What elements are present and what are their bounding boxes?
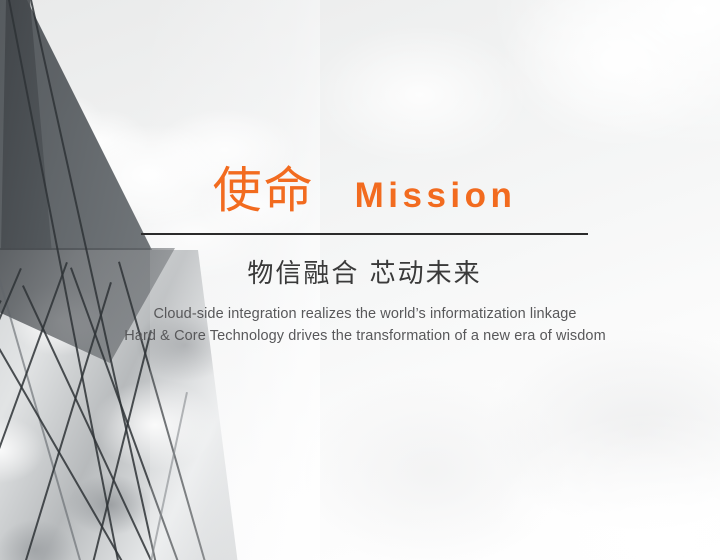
body-line-2: Hard & Core Technology drives the transf… <box>60 325 670 347</box>
body-line-1: Cloud-side integration realizes the worl… <box>60 303 670 325</box>
slide-content: 使命 Mission 物信融合 芯动未来 Cloud-side integrat… <box>0 0 720 560</box>
body-text-block: Cloud-side integration realizes the worl… <box>60 303 670 347</box>
mission-title: 使命 Mission <box>141 166 588 215</box>
subtitle-chinese: 物信融合 芯动未来 <box>141 258 588 291</box>
mission-slide: 使命 Mission 物信融合 芯动未来 Cloud-side integrat… <box>0 0 720 560</box>
title-english: Mission <box>355 178 517 213</box>
title-chinese: 使命 <box>213 166 315 215</box>
title-divider <box>141 233 588 235</box>
